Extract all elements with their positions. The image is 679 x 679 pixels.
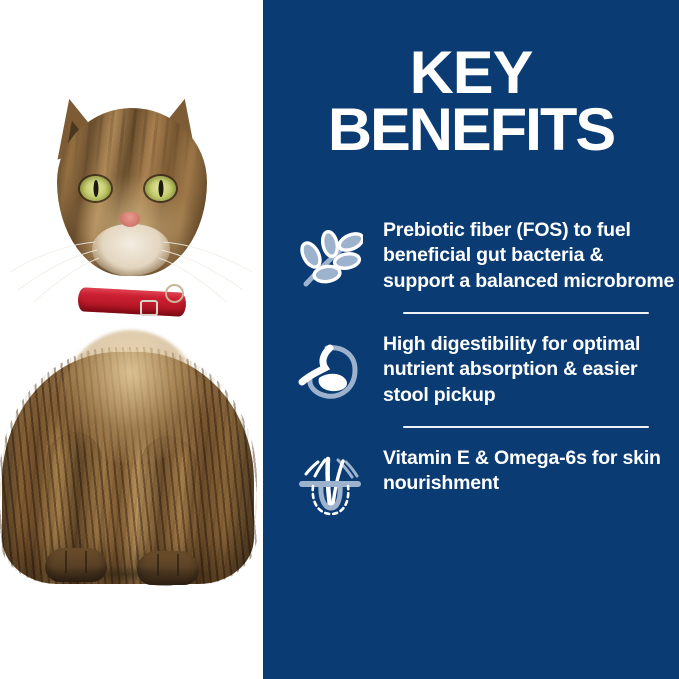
benefit-item-high-digestibility: High digestibility for optimal nutrient … [293,330,679,428]
cat-ground-shadow [36,566,216,582]
benefit-icon-slot [293,336,367,410]
cat-photo [0,0,263,679]
benefit-item-vitamin-e-omega: Vitamin E & Omega-6s for skin nourishmen… [293,444,679,524]
stomach-icon [297,342,363,404]
title-line-2: BENEFITS [259,101,679,158]
wheat-leaf-icon [297,228,363,290]
cat-eye-left [80,176,111,201]
benefit-divider [403,426,649,428]
benefit-item-prebiotic-fiber: Prebiotic fiber (FOS) to fuel beneficial… [293,216,679,314]
cat-collar-ring [165,284,184,303]
page-title: KEY BENEFITS [259,44,679,158]
benefits-list: Prebiotic fiber (FOS) to fuel beneficial… [293,216,679,524]
cat-pupil-left [93,180,98,197]
benefit-icon-slot [293,222,367,296]
benefit-icon-slot [293,450,367,524]
cat-collar-buckle [140,300,158,316]
benefit-text: Vitamin E & Omega-6s for skin nourishmen… [383,444,679,497]
benefit-text: High digestibility for optimal nutrient … [383,330,679,408]
key-benefits-infographic: KEY BENEFITS [0,0,679,679]
hair-follicle-icon [297,456,363,518]
cat-nose [120,212,140,227]
benefit-text: Prebiotic fiber (FOS) to fuel beneficial… [383,216,679,294]
cat-eye-right [145,176,176,201]
cat-pupil-right [158,180,163,197]
cat-photo-panel [0,0,263,679]
benefits-panel: KEY BENEFITS [263,0,679,679]
cat-muzzle [92,224,170,276]
benefit-divider [403,312,649,314]
